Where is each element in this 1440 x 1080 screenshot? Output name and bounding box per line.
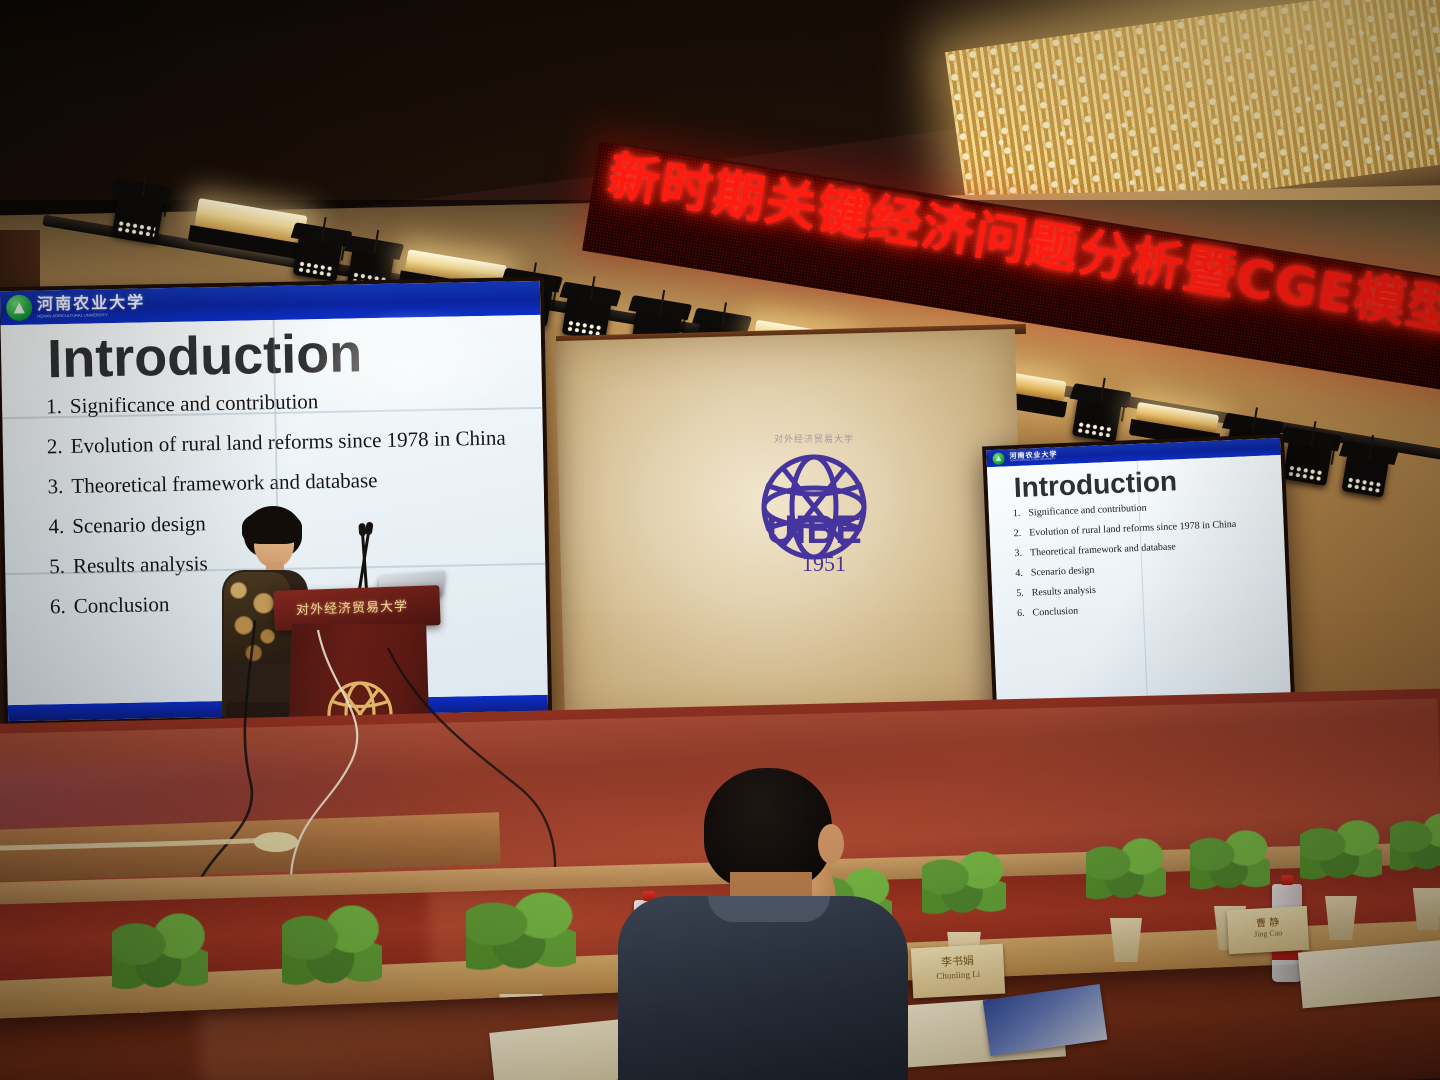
bullet-number: 5. [1016, 588, 1024, 599]
plant-pot [1409, 888, 1440, 930]
slide-bullet: 5. Results analysis [1016, 577, 1278, 599]
conference-hall-photo: 新时期关键经济问题分析暨CGE模型发展研讨会 [0, 0, 1440, 1080]
uibe-logo-year: 1951 [802, 551, 846, 576]
bullet-number: 1. [1013, 508, 1021, 519]
stage-light-par [1341, 453, 1389, 497]
name-card: 李书娟 Chunling Li [911, 944, 1005, 999]
bullet-text: Theoretical framework and database [1030, 541, 1176, 558]
plant-leaves [1390, 813, 1440, 875]
plant-pot [1321, 896, 1361, 940]
bullet-text: Results analysis [1032, 585, 1097, 599]
plant-pot [1106, 918, 1146, 962]
slide-bullet-list: 1. Significance and contribution 2. Evol… [997, 493, 1280, 620]
bullet-text: Conclusion [1032, 606, 1078, 619]
audience-ear [818, 824, 844, 864]
bullet-text: Conclusion [73, 592, 169, 619]
henan-agricultural-university-emblem-icon [6, 295, 32, 321]
plant-leaves [1086, 838, 1166, 904]
bullet-text: Scenario design [1031, 565, 1095, 579]
audience-shirt [618, 896, 908, 1080]
bullet-number: 4. [48, 514, 64, 539]
name-card: 曹 静 Jing Cao [1227, 906, 1309, 954]
uibe-logo-text: UIBE [766, 508, 862, 552]
slide-bullet: 4. Scenario design [1015, 557, 1277, 579]
plant-leaves [466, 892, 576, 976]
potted-plant [1390, 838, 1440, 930]
bullet-number: 3. [47, 474, 63, 499]
uibe-globe-logo: UIBE 1951 [742, 445, 892, 595]
stage-light-par [112, 191, 165, 242]
stage-light-par [1072, 396, 1122, 443]
henan-agricultural-university-emblem-icon [992, 452, 1004, 464]
bullet-number: 1. [46, 394, 62, 419]
paper-sheet [1298, 940, 1440, 1009]
slide-university-name-cn: 河南农业大学 [37, 294, 145, 312]
bullet-number: 5. [49, 554, 65, 579]
plant-leaves [1190, 830, 1270, 894]
slide-bullet: 3. Theoretical framework and database [47, 465, 535, 499]
slide-bullet: 1. Significance and contribution [46, 385, 534, 419]
bullet-number: 6. [50, 594, 66, 619]
stage-light-par [293, 235, 343, 282]
bullet-text: Significance and contribution [70, 389, 319, 419]
slide-bullet: 6. Conclusion [1017, 597, 1279, 619]
bullet-text: Evolution of rural land reforms since 19… [1029, 519, 1236, 539]
bullet-text: Scenario design [72, 511, 206, 539]
stage-light-par [1283, 439, 1333, 486]
plant-leaves [1300, 820, 1382, 884]
bullet-text: Evolution of rural land reforms since 19… [70, 426, 505, 459]
secondary-projection-screen[interactable]: 河南农业大学 HENAN AGRICULTURAL UNIVERSITY Int… [982, 434, 1296, 736]
bullet-text: Theoretical framework and database [71, 468, 378, 499]
plant-leaves [112, 913, 208, 995]
slide-body: Introduction 1. Significance and contrib… [987, 455, 1291, 721]
potted-plant [1086, 866, 1166, 962]
audience-member-back-view [612, 768, 912, 1080]
presentation-slide-duplicate: 河南农业大学 HENAN AGRICULTURAL UNIVERSITY Int… [986, 438, 1292, 732]
plant-leaves [922, 851, 1006, 919]
bullet-number: 2. [1014, 528, 1022, 539]
bullet-text: Significance and contribution [1028, 503, 1147, 519]
plant-leaves [282, 905, 382, 991]
slide-bullet: 2. Evolution of rural land reforms since… [47, 425, 535, 459]
bullet-number: 3. [1014, 548, 1022, 559]
bottle-cap [1281, 875, 1293, 885]
audience-collar [708, 896, 830, 922]
bullet-text: Results analysis [73, 551, 208, 579]
slide-university-name-en: HENAN AGRICULTURAL UNIVERSITY [37, 312, 145, 318]
bullet-number: 4. [1015, 568, 1023, 579]
speaker-fringe [242, 510, 302, 544]
slide-bullet: 2. Evolution of rural land reforms since… [1014, 517, 1276, 539]
potted-plant [1300, 846, 1382, 940]
slide-university-name-en: HENAN AGRICULTURAL UNIVERSITY [1010, 458, 1058, 463]
bullet-number: 6. [1017, 608, 1025, 619]
slide-title: Introduction [9, 315, 534, 391]
bullet-number: 2. [47, 434, 63, 459]
slide-bullet: 3. Theoretical framework and database [1014, 537, 1276, 559]
